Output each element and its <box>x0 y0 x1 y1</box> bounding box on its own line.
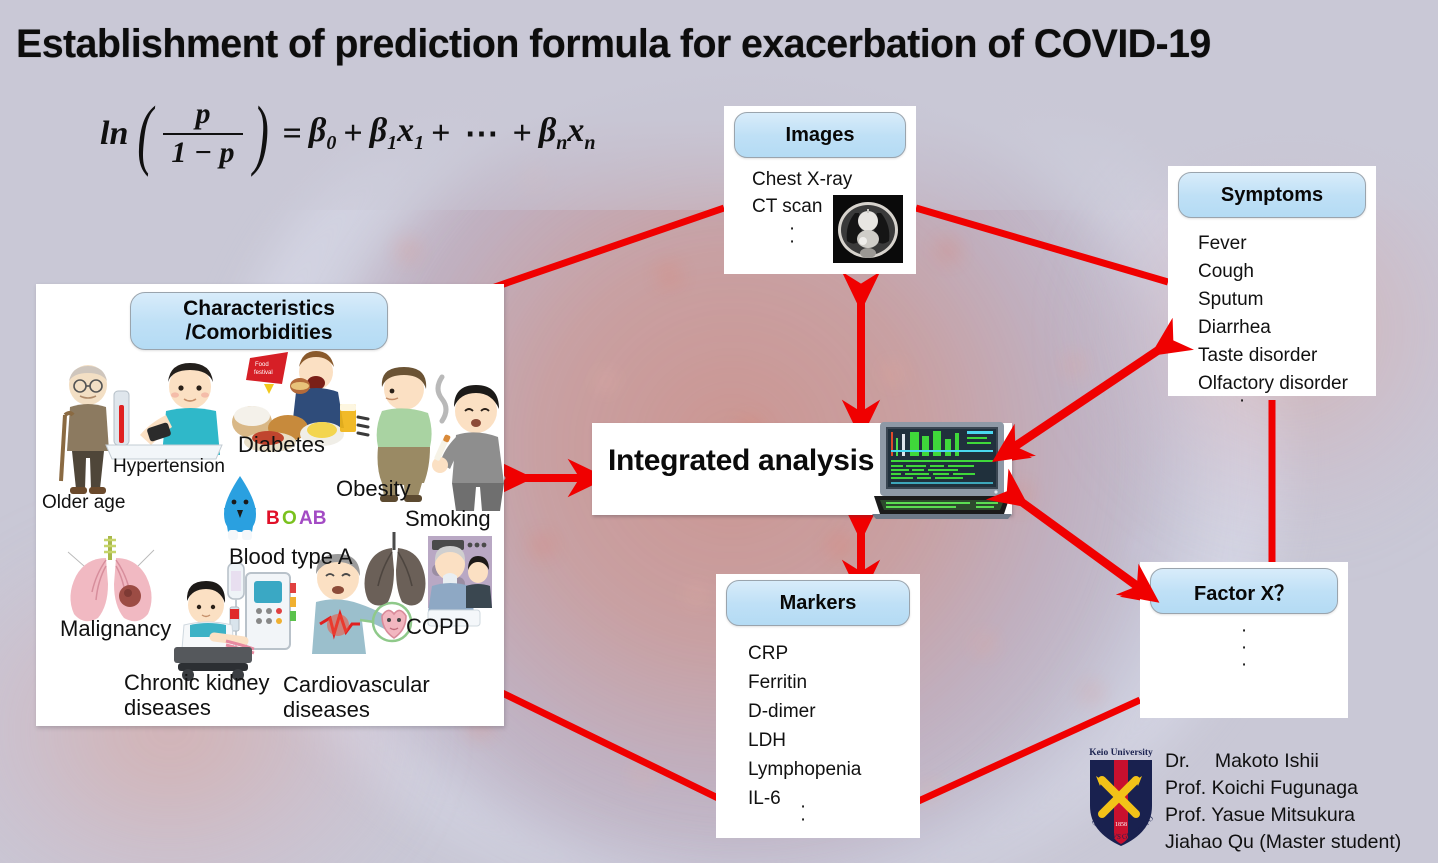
markers-item-3: LDH <box>748 727 786 756</box>
page-title: Establishment of prediction formula for … <box>16 22 1405 67</box>
formula-beta0: β0 <box>309 112 336 155</box>
formula-plus-3: + <box>512 115 531 153</box>
formula-betanxn: βnxn <box>539 112 596 155</box>
label-cardiovascular-diseases: Cardiovascular diseases <box>283 672 430 722</box>
formula-plus-1: + <box>343 115 362 153</box>
blood-type-b: B <box>266 508 280 529</box>
formula-paren-close: ) <box>253 106 269 162</box>
label-cvd-line2: diseases <box>283 697 430 722</box>
integrated-analysis-label: Integrated analysis <box>608 444 874 478</box>
symptoms-dots: · <box>1235 394 1249 407</box>
symptoms-item-4: Taste disorder <box>1198 342 1317 371</box>
images-item-0: Chest X-ray <box>752 166 852 195</box>
credit-line-0: Dr. Makoto Ishii <box>1165 748 1401 775</box>
images-title: Images <box>786 124 855 147</box>
formula-plus-2: + <box>431 115 450 153</box>
logistic-regression-formula: ln ( p 1 − p ) = β0 + β1x1 + ⋯ + βnxn <box>100 96 596 171</box>
label-blood-type-a: Blood type A <box>229 546 353 567</box>
characteristics-title-line2: /Comorbidities <box>183 321 335 345</box>
slide-canvas: Establishment of prediction formula for … <box>0 0 1438 863</box>
symptoms-title-pill[interactable]: Symptoms <box>1178 172 1366 218</box>
formula-ln: ln <box>100 115 128 153</box>
markers-title: Markers <box>780 592 857 615</box>
formula-beta1x1: β1x1 <box>370 112 424 155</box>
blood-type-icon: B O AB <box>210 472 328 544</box>
markers-item-2: D-dimer <box>748 698 816 727</box>
keio-university-logo: Keio University 1858 CALAMVS GLADIO FORT… <box>1078 744 1164 856</box>
computer-monitor-icon <box>872 420 1012 520</box>
blood-type-ab: AB <box>299 508 326 529</box>
label-diabetes: Diabetes <box>238 434 325 455</box>
label-ckd-line1: Chronic kidney <box>124 670 270 695</box>
label-hypertension: Hypertension <box>113 456 225 477</box>
markers-item-0: CRP <box>748 640 788 669</box>
ct-scan-thumbnail <box>833 195 903 263</box>
keio-logo-wordmark: Keio University <box>1089 748 1153 758</box>
symptoms-item-3: Diarrhea <box>1198 314 1271 343</box>
credit-line-1: Prof. Koichi Fugunaga <box>1165 775 1401 802</box>
images-dots: ·· <box>785 222 799 248</box>
credit-line-2: Prof. Yasue Mitsukura <box>1165 802 1401 829</box>
credit-line-3: Jiahao Qu (Master student) <box>1165 829 1401 856</box>
markers-item-4: Lymphopenia <box>748 756 861 785</box>
formula-paren-open: ( <box>138 106 154 162</box>
label-copd: COPD <box>406 616 470 637</box>
markers-item-1: Ferritin <box>748 669 807 698</box>
svg-text:festival: festival <box>254 370 273 376</box>
characteristics-title-pill[interactable]: Characteristics /Comorbidities <box>130 292 388 350</box>
smoking-man-icon <box>424 373 508 513</box>
symptoms-item-0: Fever <box>1198 230 1247 259</box>
label-older-age: Older age <box>42 492 125 513</box>
factorx-dots: ··· <box>1237 622 1251 673</box>
symptoms-item-2: Sputum <box>1198 286 1263 315</box>
credits-block: Dr. Makoto Ishii Prof. Koichi Fugunaga P… <box>1165 748 1401 856</box>
symptoms-item-5: Olfactory disorder <box>1198 370 1348 399</box>
svg-text:Food: Food <box>255 362 269 368</box>
symptoms-item-1: Cough <box>1198 258 1254 287</box>
factorx-title-pill[interactable]: Factor X？ <box>1150 568 1338 614</box>
formula-fraction: p 1 − p <box>163 96 242 171</box>
formula-denominator: 1 − p <box>163 133 242 172</box>
markers-title-pill[interactable]: Markers <box>726 580 910 626</box>
label-malignancy: Malignancy <box>60 618 171 639</box>
characteristics-title-line1: Characteristics <box>183 297 335 321</box>
factorx-title: Factor X？ <box>1194 577 1294 606</box>
symptoms-title: Symptoms <box>1221 184 1323 207</box>
label-chronic-kidney-diseases: Chronic kidney diseases <box>124 670 270 720</box>
label-obesity: Obesity <box>336 478 411 499</box>
formula-numerator: p <box>187 96 218 133</box>
markers-dots: ·· <box>796 800 810 826</box>
keio-logo-year: 1858 <box>1115 822 1127 828</box>
label-smoking: Smoking <box>405 508 491 529</box>
blood-type-o: O <box>282 508 297 529</box>
images-title-pill[interactable]: Images <box>734 112 906 158</box>
formula-ellipsis: ⋯ <box>464 114 498 154</box>
markers-item-5: IL-6 <box>748 785 781 814</box>
images-item-1: CT scan <box>752 193 822 222</box>
label-ckd-line2: diseases <box>124 695 270 720</box>
formula-equals: = <box>283 115 302 153</box>
label-cvd-line1: Cardiovascular <box>283 672 430 697</box>
